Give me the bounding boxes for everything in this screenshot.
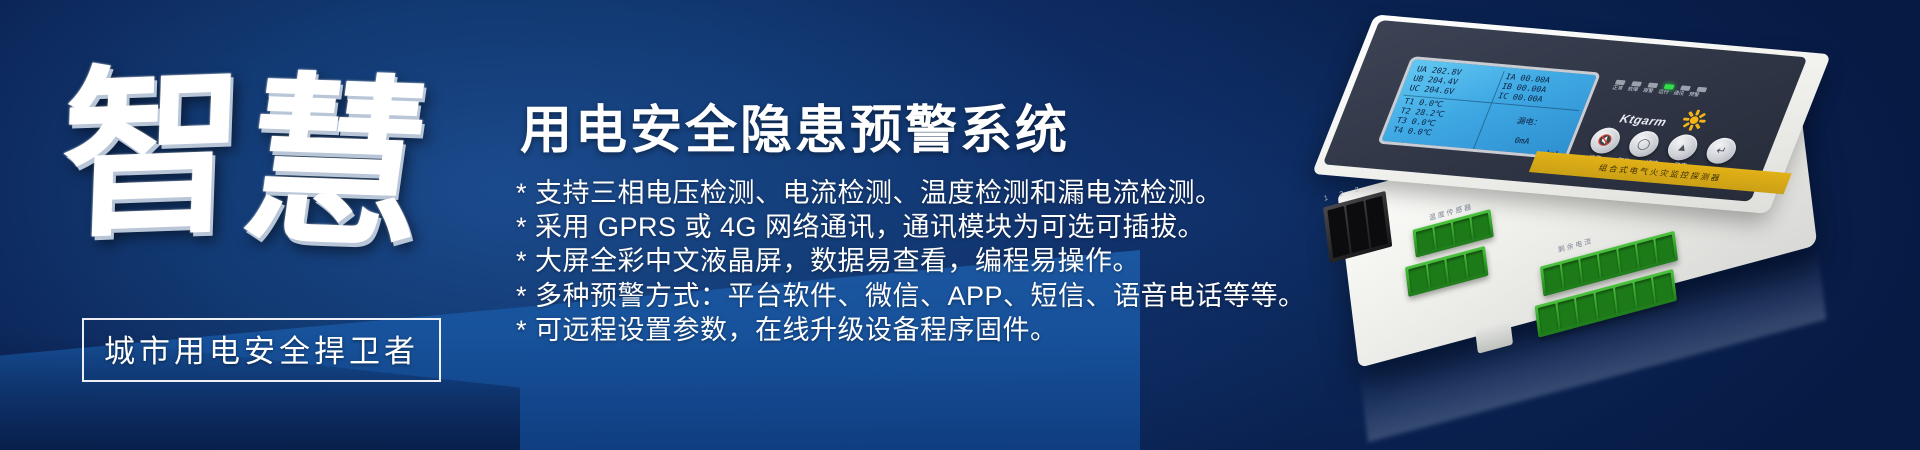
feature-list: * 支持三相电压检测、电流检测、温度检测和漏电流检测。 * 采用 GPRS 或 … — [516, 178, 1306, 345]
list-item: * 大屏全彩中文液晶屏，数据易查看，编程易操作。 — [516, 246, 1306, 276]
lcd-leakage-label: 漏电： — [1516, 117, 1544, 128]
device-lcd-screen: UA 202.8V UB 204.4V UC 204.6V IA 00.00A … — [1377, 56, 1601, 160]
list-item: * 多种预警方式：平台软件、微信、APP、短信、语音电话等等。 — [516, 281, 1306, 311]
led-label-normal: 正常 — [1611, 84, 1624, 92]
calligraphy-char-hui: 慧 — [232, 69, 435, 257]
list-item: * 采用 GPRS 或 4G 网络通讯，通讯模块为可选可插拔。 — [516, 212, 1306, 242]
list-item: * 支持三相电压检测、电流检测、温度检测和漏电流检测。 — [516, 178, 1306, 208]
device-illustration: UA 202.8V UB 204.4V UC 204.6V IA 00.00A … — [1279, 0, 1920, 424]
calligraphy-char-zhi: 智 — [59, 59, 244, 247]
calligraphy-wordmark: 智 慧 — [62, 18, 442, 288]
device-button-confirm[interactable]: ↵ — [1702, 137, 1740, 165]
promo-banner: 智 慧 城市用电安全捍卫者 用电安全隐患预警系统 * 支持三相电压检测、电流检测… — [0, 0, 1920, 450]
device-button-reset[interactable]: ◯ — [1625, 130, 1663, 158]
led-label-comm: 通讯 — [1672, 90, 1685, 98]
list-item: * 可远程设置参数，在线升级设备程序固件。 — [516, 315, 1306, 345]
led-label-fault: 故障 — [1627, 86, 1640, 94]
led-label-prewarn: 预警 — [1688, 91, 1701, 99]
slogan-box: 城市用电安全捍卫者 — [82, 318, 441, 382]
led-label-run: 运行 — [1657, 88, 1670, 96]
lcd-leakage-value: 0mA — [1513, 136, 1531, 146]
page-title: 用电安全隐患预警系统 — [520, 88, 1070, 163]
device-button-switch[interactable]: ▲ — [1664, 133, 1702, 161]
led-label-alarm: 报警 — [1642, 87, 1655, 95]
